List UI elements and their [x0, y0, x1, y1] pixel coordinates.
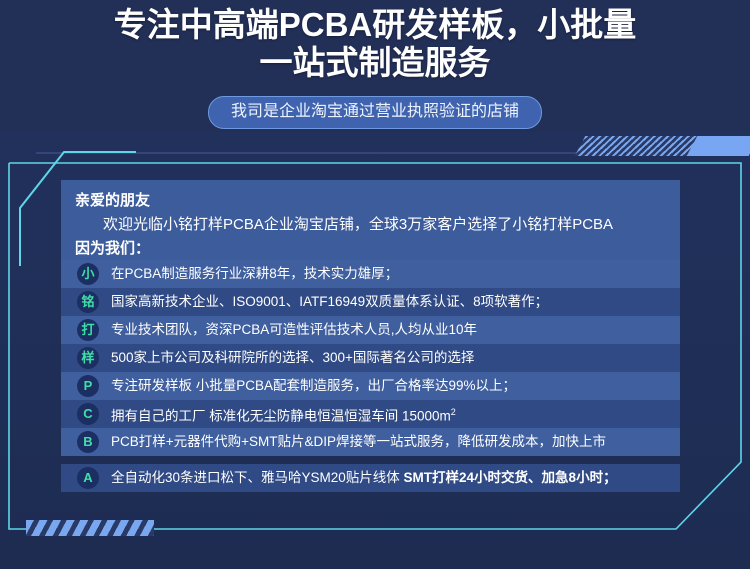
bottom-diagonal-stripes-icon: [26, 520, 154, 536]
stripe-solid-block: [687, 136, 750, 156]
list-item-label: 专业技术团队，资深PCBA可造性评估技术人员,人均从业10年: [111, 321, 477, 339]
list-item-label: 500家上市公司及科研院所的选择、300+国际著名公司的选择: [111, 349, 474, 367]
stripe-hatch: [575, 136, 702, 156]
list-item[interactable]: 小在PCBA制造服务行业深耕8年，技术实力雄厚；: [61, 260, 680, 288]
list-item[interactable]: 样500家上市公司及科研院所的选择、300+国际著名公司的选择: [61, 344, 680, 372]
content-panel: 亲爱的朋友 欢迎光临小铭打样PCBA企业淘宝店铺，全球3万家客户选择了小铭打样P…: [61, 180, 680, 505]
list-item-badge: C: [77, 403, 99, 425]
list-item-badge: 样: [77, 347, 99, 369]
list-item-label: 全自动化30条进口松下、雅马哈YSM20贴片线体 SMT打样24小时交货、加急8…: [111, 469, 617, 487]
status-badge: 我司是企业淘宝通过营业执照验证的店铺: [208, 96, 542, 129]
list-item[interactable]: BPCB打样+元器件代购+SMT贴片&DIP焊接等一站式服务，降低研发成本，加快…: [61, 428, 680, 456]
title-line-2: 一站式制造服务: [0, 44, 750, 82]
subtitle-badge-wrap: 我司是企业淘宝通过营业执照验证的店铺: [0, 96, 750, 129]
list-item-label: 专注研发样板 小批量PCBA配套制造服务，出厂合格率达99%以上；: [111, 377, 516, 395]
greeting-line-2: 欢迎光临小铭打样PCBA企业淘宝店铺，全球3万家客户选择了小铭打样PCBA: [75, 213, 666, 237]
list-item-badge: A: [77, 467, 99, 489]
list-item-badge: B: [77, 431, 99, 453]
list-item[interactable]: 打专业技术团队，资深PCBA可造性评估技术人员,人均从业10年: [61, 316, 680, 344]
list-item-label: 在PCBA制造服务行业深耕8年，技术实力雄厚；: [111, 265, 398, 283]
promo-banner-page: 专注中高端PCBA研发样板，小批量 一站式制造服务 我司是企业淘宝通过营业执照验…: [0, 0, 750, 569]
list-item-badge: 小: [77, 263, 99, 285]
list-item-badge: 打: [77, 319, 99, 341]
diagonal-stripe-bar-icon: [580, 136, 750, 156]
feature-list: 小在PCBA制造服务行业深耕8年，技术实力雄厚；铭国家高新技术企业、ISO900…: [61, 260, 680, 492]
list-item-label: 拥有自己的工厂 标准化无尘防静电恒温恒湿车间 15000m2: [111, 403, 456, 426]
greeting-block: 亲爱的朋友 欢迎光临小铭打样PCBA企业淘宝店铺，全球3万家客户选择了小铭打样P…: [61, 180, 680, 260]
greeting-line-3: 因为我们：: [75, 237, 666, 261]
header: 专注中高端PCBA研发样板，小批量 一站式制造服务 我司是企业淘宝通过营业执照验…: [0, 0, 750, 132]
list-item-label: PCB打样+元器件代购+SMT贴片&DIP焊接等一站式服务，降低研发成本，加快上…: [111, 433, 606, 451]
list-item-label: 国家高新技术企业、ISO9001、IATF16949双质量体系认证、8项软著作；: [111, 293, 548, 311]
title-line-1: 专注中高端PCBA研发样板，小批量: [0, 6, 750, 44]
list-item[interactable]: 铭国家高新技术企业、ISO9001、IATF16949双质量体系认证、8项软著作…: [61, 288, 680, 316]
list-item[interactable]: A全自动化30条进口松下、雅马哈YSM20贴片线体 SMT打样24小时交货、加急…: [61, 464, 680, 492]
list-item[interactable]: C拥有自己的工厂 标准化无尘防静电恒温恒湿车间 15000m2: [61, 400, 680, 428]
greeting-line-1: 亲爱的朋友: [75, 189, 666, 213]
list-item[interactable]: P专注研发样板 小批量PCBA配套制造服务，出厂合格率达99%以上；: [61, 372, 680, 400]
list-item-badge: 铭: [77, 291, 99, 313]
list-item-badge: P: [77, 375, 99, 397]
page-title: 专注中高端PCBA研发样板，小批量 一站式制造服务: [0, 6, 750, 82]
